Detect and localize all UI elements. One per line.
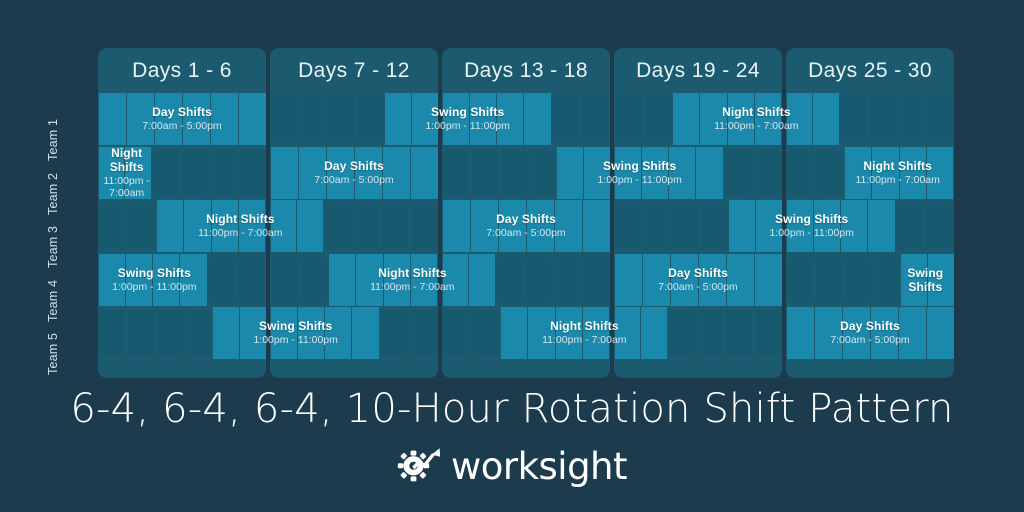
day-group-header: Days 1 - 6 <box>98 48 266 93</box>
day-cell <box>557 147 583 199</box>
day-cell <box>239 93 266 145</box>
table-row <box>614 147 782 199</box>
day-cell <box>615 147 641 199</box>
day-cell <box>927 147 953 199</box>
day-cell <box>411 147 438 199</box>
day-cell <box>471 200 498 252</box>
gear-arrow-icon <box>397 444 441 489</box>
day-cell <box>845 147 871 199</box>
day-cell <box>272 257 298 303</box>
day-cell <box>928 254 954 306</box>
day-cell <box>271 147 298 199</box>
day-cell <box>444 310 470 356</box>
day-cell <box>381 310 407 356</box>
day-cell <box>616 96 642 142</box>
worksight-logo: worksight <box>0 441 1024 491</box>
day-cell <box>696 147 722 199</box>
day-cell <box>327 147 354 199</box>
table-row <box>270 200 438 252</box>
day-cell <box>645 96 671 142</box>
day-cell <box>100 203 126 249</box>
day-cell <box>787 307 814 359</box>
day-cell <box>300 96 326 142</box>
table-row <box>270 93 438 145</box>
table-row <box>270 147 438 199</box>
day-cell <box>128 310 154 356</box>
day-cell <box>100 310 126 356</box>
day-cell <box>240 307 266 359</box>
day-cell <box>239 150 265 196</box>
day-cell <box>901 254 927 306</box>
day-cell <box>213 307 239 359</box>
day-cell <box>669 310 695 356</box>
day-cell <box>616 203 642 249</box>
day-cell <box>700 93 726 145</box>
day-cell <box>582 96 608 142</box>
day-cell <box>180 254 206 306</box>
table-row <box>98 254 266 306</box>
day-cell <box>528 307 554 359</box>
table-row <box>614 200 782 252</box>
day-cell <box>872 147 898 199</box>
day-cell <box>787 93 813 145</box>
day-cell <box>643 254 670 306</box>
table-row <box>98 93 266 145</box>
day-cell <box>756 200 782 252</box>
day-group-header: Days 13 - 18 <box>442 48 610 93</box>
day-group-header: Days 19 - 24 <box>614 48 782 93</box>
table-row <box>442 200 610 252</box>
day-cell <box>530 150 556 196</box>
day-cell <box>325 307 351 359</box>
day-cell <box>754 150 780 196</box>
day-cell <box>813 93 839 145</box>
day-cell <box>729 200 755 252</box>
day-cell <box>183 93 210 145</box>
day-cell <box>698 310 724 356</box>
day-cell <box>411 203 437 249</box>
day-cell <box>444 150 470 196</box>
team-label-1: Team 1 <box>46 109 62 161</box>
team-label-5: Team 5 <box>46 323 62 375</box>
day-cell <box>642 147 668 199</box>
day-group-3: Days 13 - 18 <box>442 48 610 378</box>
day-cell <box>817 150 843 196</box>
day-cell <box>725 150 751 196</box>
day-cell <box>411 254 437 306</box>
day-cell <box>868 200 894 252</box>
day-group-header: Days 25 - 30 <box>786 48 954 93</box>
day-cell <box>527 200 554 252</box>
team-label-2: Team 2 <box>46 163 62 215</box>
day-cell <box>355 147 382 199</box>
day-cell <box>299 147 326 199</box>
day-cell <box>583 307 609 359</box>
day-cell <box>155 93 182 145</box>
day-cell <box>469 254 495 306</box>
day-cell <box>927 96 953 142</box>
day-cell <box>816 257 842 303</box>
day-cell <box>874 257 900 303</box>
table-row <box>98 307 266 359</box>
table-row <box>614 307 782 359</box>
table-row <box>270 307 438 359</box>
day-cell <box>211 93 238 145</box>
logo-text: worksight <box>451 445 627 488</box>
day-cell <box>209 257 235 303</box>
day-cell <box>412 93 438 145</box>
day-cell <box>99 254 125 306</box>
day-cell <box>356 254 382 306</box>
day-cell <box>352 307 378 359</box>
day-cell <box>526 257 552 303</box>
day-cell <box>125 147 151 199</box>
table-row <box>786 147 954 199</box>
team-label-rail: Team 1Team 2Team 3Team 4Team 5 <box>62 95 92 365</box>
day-cell <box>841 200 867 252</box>
day-cell <box>186 310 212 356</box>
day-cell <box>554 257 580 303</box>
table-row <box>786 93 954 145</box>
day-cell <box>384 254 410 306</box>
day-group-2: Days 7 - 12 <box>270 48 438 378</box>
table-row <box>614 93 782 145</box>
day-cell <box>301 257 327 303</box>
day-cell <box>297 200 323 252</box>
day-cell <box>271 200 297 252</box>
day-cell <box>501 307 527 359</box>
table-row <box>270 254 438 306</box>
day-cell <box>728 93 754 145</box>
day-cell <box>556 307 582 359</box>
day-cell <box>272 96 298 142</box>
day-cell <box>497 257 523 303</box>
table-row <box>442 307 610 359</box>
day-cell <box>127 93 154 145</box>
day-cell <box>870 96 896 142</box>
table-row <box>786 307 954 359</box>
day-cell <box>153 254 179 306</box>
day-cell <box>99 147 125 199</box>
day-group-header: Days 7 - 12 <box>270 48 438 93</box>
day-cell <box>443 200 470 252</box>
day-cell <box>897 203 923 249</box>
day-cell <box>354 203 380 249</box>
rotation-chart: Team 1Team 2Team 3Team 4Team 5 Days 1 - … <box>0 0 1024 385</box>
day-cell <box>470 93 496 145</box>
day-cell <box>239 200 265 252</box>
day-cell <box>358 96 384 142</box>
day-cell <box>726 310 752 356</box>
day-cell <box>382 203 408 249</box>
day-cell <box>383 147 410 199</box>
day-cell <box>841 96 867 142</box>
day-cell <box>555 200 582 252</box>
day-cell <box>443 254 469 306</box>
day-cell <box>524 93 550 145</box>
day-cell <box>900 147 926 199</box>
day-cell <box>212 200 238 252</box>
table-row <box>98 200 266 252</box>
day-cell <box>615 307 641 359</box>
day-cell <box>926 203 952 249</box>
day-cell <box>671 254 698 306</box>
day-cell <box>385 93 411 145</box>
day-cell <box>815 307 842 359</box>
table-row <box>442 254 610 306</box>
day-cell <box>501 150 527 196</box>
day-cell <box>153 150 179 196</box>
day-cell <box>210 150 236 196</box>
day-cell <box>410 310 436 356</box>
table-row <box>442 93 610 145</box>
table-row <box>786 200 954 252</box>
day-cell <box>497 93 523 145</box>
day-cell <box>129 203 155 249</box>
day-cell <box>473 310 499 356</box>
day-cell <box>584 147 610 199</box>
day-cell <box>699 254 726 306</box>
day-cell <box>126 254 152 306</box>
table-row <box>614 254 782 306</box>
day-cell <box>182 150 208 196</box>
day-cell <box>845 257 871 303</box>
day-cell <box>329 96 355 142</box>
day-cell <box>157 200 183 252</box>
day-cell <box>298 307 324 359</box>
page-title: 6-4, 6-4, 6-4, 10-Hour Rotation Shift Pa… <box>0 386 1024 432</box>
day-cell <box>499 200 526 252</box>
day-cell <box>898 96 924 142</box>
day-group-5: Days 25 - 30 <box>786 48 954 378</box>
day-cell <box>669 147 695 199</box>
day-cell <box>727 254 754 306</box>
day-cell <box>325 203 351 249</box>
day-cell <box>814 200 840 252</box>
day-cell <box>615 254 642 306</box>
day-cell <box>673 203 699 249</box>
day-cell <box>871 307 898 359</box>
day-cell <box>641 307 667 359</box>
table-row <box>98 147 266 199</box>
day-cell <box>702 203 728 249</box>
day-cell <box>99 93 126 145</box>
day-cell <box>843 307 870 359</box>
day-group-1: Days 1 - 6 <box>98 48 266 378</box>
day-cell <box>644 203 670 249</box>
day-cell <box>238 257 264 303</box>
day-cell <box>472 150 498 196</box>
day-group-4: Days 19 - 24 <box>614 48 782 378</box>
day-cell <box>787 200 813 252</box>
day-cell <box>927 307 954 359</box>
day-cell <box>583 200 610 252</box>
day-cell <box>899 307 926 359</box>
team-label-3: Team 3 <box>46 216 62 268</box>
day-cell <box>271 307 297 359</box>
day-cell <box>755 254 782 306</box>
day-cell <box>755 310 781 356</box>
day-cell <box>583 257 609 303</box>
table-row <box>442 147 610 199</box>
team-label-4: Team 4 <box>46 270 62 322</box>
day-cell <box>157 310 183 356</box>
table-row <box>786 254 954 306</box>
day-cell <box>673 93 699 145</box>
day-cell <box>788 257 814 303</box>
day-cell <box>184 200 210 252</box>
day-cell <box>788 150 814 196</box>
day-cell <box>755 93 781 145</box>
day-cell <box>553 96 579 142</box>
day-cell <box>443 93 469 145</box>
day-cell <box>329 254 355 306</box>
